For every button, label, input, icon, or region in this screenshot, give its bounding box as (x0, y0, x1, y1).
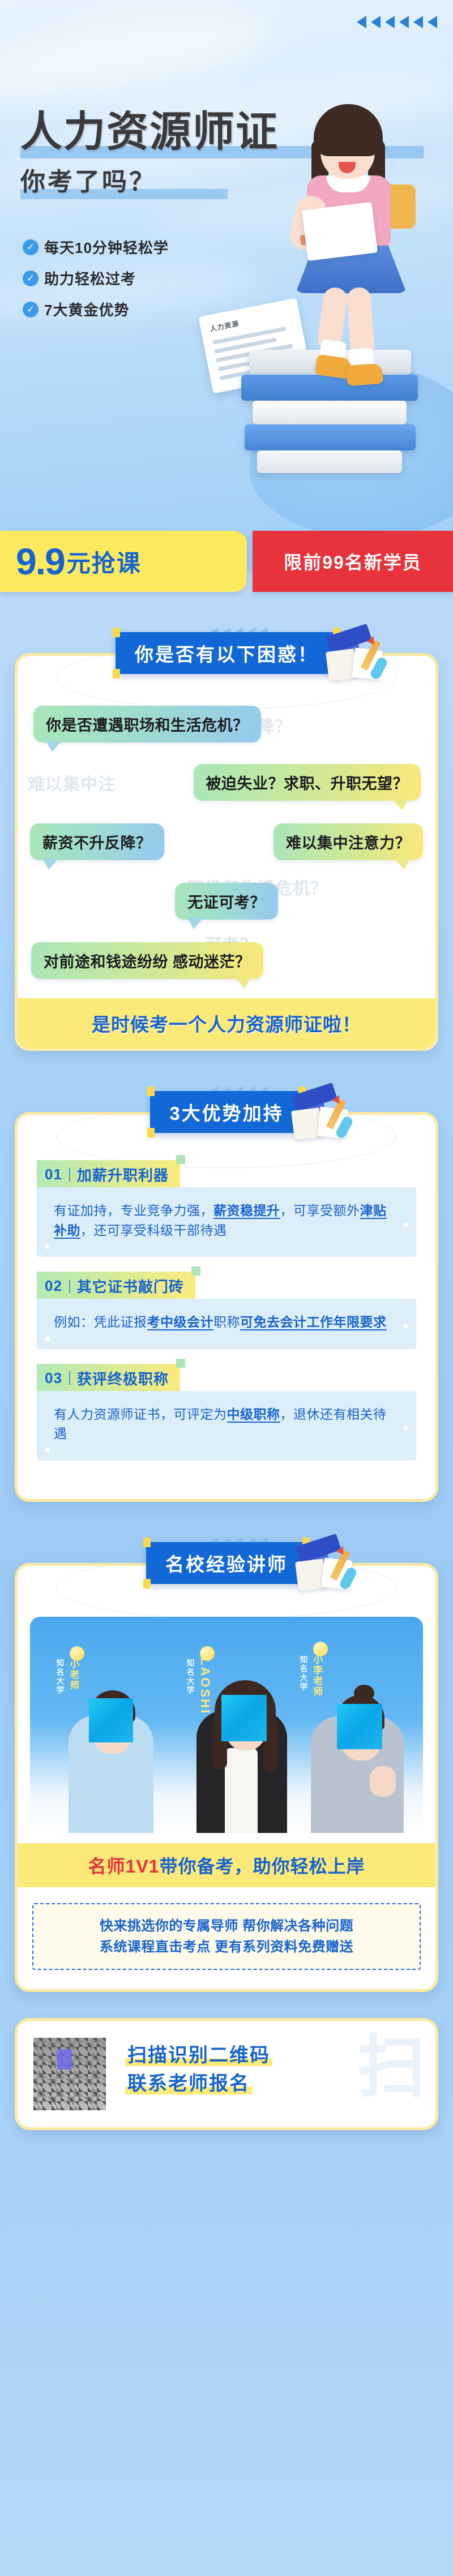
advantage-name: 获评终极职称 (77, 1368, 169, 1389)
note-line: 快来挑选你的专属导师 帮你解决各种问题 (39, 1916, 414, 1937)
bubble-text: 对前途和钱途纷纷 感动迷茫？ (44, 954, 251, 971)
bubble-text: 你是否遭遇职场和生活危机？ (46, 717, 249, 734)
triangle-left-icon (371, 16, 381, 28)
list-item: 03 获评终极职称 有人力资源师证书，可评定为中级职称，退休还有相关待遇 (37, 1364, 416, 1461)
section-header: 3大优势加持 (15, 1081, 438, 1143)
triangle-left-icon (385, 16, 395, 28)
advantage-tag: 03 获评终极职称 (37, 1364, 180, 1393)
arrow-group-top (357, 16, 437, 28)
divider (69, 1280, 70, 1293)
hero-banner: 人力资源师证 你考了吗？ ✓ 每天10分钟轻松学 ✓ 助力轻松过考 ✓ 7大黄金… (0, 0, 453, 572)
confusion-cta-label: 是时候考一个人力资源师证啦！ (92, 1014, 361, 1035)
open-book (302, 202, 378, 261)
teachers-notes: 快来挑选你的专属导师 帮你解决各种问题 系统课程直击考点 更有系列资料免费赠送 (32, 1903, 421, 1970)
pin-icon (113, 669, 120, 679)
triangle-left-icon (399, 16, 409, 28)
teachers-section: 名校经验讲师 小老师 (15, 1532, 438, 1992)
advantage-list: 01 加薪升职利器 有证加持，专业竞争力强，薪资稳提升，可享受额外津贴补助，还可… (18, 1157, 435, 1499)
qr-line-1: 扫描识别二维码 (125, 2046, 272, 2066)
divider (69, 1168, 70, 1182)
dot-decoration (45, 1448, 50, 1453)
check-circle-icon: ✓ (23, 271, 39, 286)
dot-decoration (403, 1324, 408, 1329)
book-stack-item (245, 424, 416, 450)
bullet-label: 每天10分钟轻松学 (44, 237, 169, 257)
pin-icon (147, 1087, 155, 1096)
section-title: 3大优势加持 (169, 1103, 283, 1124)
book-stack-item (253, 401, 407, 424)
pin-icon (113, 628, 120, 637)
graduation-cap-book-icon (293, 1540, 356, 1592)
teachers-cta-label: 带你备考，助你轻松上岸 (159, 1856, 365, 1877)
hero-bullet-list: ✓ 每天10分钟轻松学 ✓ 助力轻松过考 ✓ 7大黄金优势 (23, 237, 169, 330)
qr-line-2: 联系老师报名 (125, 2074, 252, 2094)
teacher-school: 知名大学 (185, 1659, 195, 1695)
page-subtitle: 你考了吗？ (20, 170, 156, 195)
teacher-name: 小李老师 (311, 1654, 323, 1697)
teachers-cta-highlight: 名师1V1 (88, 1856, 160, 1877)
bullet-label: 助力轻松过考 (44, 268, 136, 289)
graduation-cap-book-icon (324, 630, 386, 682)
list-item: ✓ 7大黄金优势 (23, 299, 169, 320)
bubble-text: 被迫失业？求职、升职无望？ (206, 775, 409, 792)
section-title: 名校经验讲师 (165, 1554, 288, 1575)
list-item: ✓ 助力轻松过考 (23, 268, 169, 289)
section-title: 你是否有以下困惑！ (135, 644, 318, 665)
advantage-name: 其它证书敲门砖 (77, 1276, 184, 1296)
teachers-card: 小老师 知名大学 LAOSHI 知名大学 (15, 1563, 438, 1992)
advantage-name: 加薪升职利器 (77, 1164, 169, 1185)
ghost-text: 难以集中注 (28, 770, 116, 795)
advantage-number: 01 (45, 1166, 62, 1183)
section-title-ribbon: 你是否有以下困惑！ (116, 632, 337, 674)
bubble-text: 无证可考？ (187, 894, 266, 911)
list-item: 01 加薪升职利器 有证加持，专业竞争力强，薪资稳提升，可享受额外津贴补助，还可… (37, 1160, 416, 1257)
bullet-label: 7大黄金优势 (44, 299, 129, 320)
teacher-name: 小老师 (67, 1659, 79, 1691)
confusion-card: 不升反降？ 难以集中注 职场和生活危机？ 可考？ 你是否遭遇职场和生活危机？ 被… (15, 653, 438, 1051)
teacher-name: LAOSHI (198, 1658, 212, 1715)
confusion-cta[interactable]: 是时候考一个人力资源师证啦！ (18, 998, 435, 1048)
teachers-cta[interactable]: 名师1V1带你备考，助你轻松上岸 (18, 1843, 435, 1887)
triangle-left-icon (428, 16, 437, 28)
speech-bubble: 对前途和钱途纷纷 感动迷茫？ (31, 942, 263, 979)
advantage-number: 02 (45, 1277, 62, 1295)
pin-icon (147, 1128, 155, 1137)
speech-bubble: 薪资不升反降？ (30, 823, 164, 860)
dot-decoration (45, 1336, 50, 1341)
price-banner[interactable]: 9.9 元抢课 限前99名新学员 (0, 531, 453, 592)
bubble-group: 不升反降？ 难以集中注 职场和生活危机？ 可考？ 你是否遭遇职场和生活危机？ 被… (18, 698, 435, 998)
paper-label: 人力资源 (209, 319, 240, 334)
advantage-body: 例如：凭此证报考中级会计职称可免去会计工作年限要求 (37, 1299, 416, 1349)
section-title-ribbon: 名校经验讲师 (146, 1542, 307, 1584)
section-header: 你是否有以下困惑！ (15, 622, 438, 684)
dot-decoration (403, 1426, 408, 1431)
qr-footer-card[interactable]: 扫 扫描识别二维码 联系老师报名 (15, 2018, 438, 2130)
price-pill[interactable]: 9.9 元抢课 (0, 531, 247, 592)
advantages-card: 01 加薪升职利器 有证加持，专业竞争力强，薪资稳提升，可享受额外津贴补助，还可… (15, 1112, 438, 1502)
advantage-text: 有人力资源师证书，可评定为中级职称，退休还有相关待遇 (54, 1405, 399, 1444)
bottom-spacer (0, 2130, 453, 2198)
bubble-text: 难以集中注意力？ (286, 835, 411, 852)
dot-decoration (45, 1244, 50, 1249)
advantage-tag: 01 加薪升职利器 (37, 1160, 180, 1189)
teacher-gallery: 小老师 知名大学 LAOSHI 知名大学 (18, 1608, 435, 1887)
price-amount: 9.9 (16, 543, 65, 580)
limit-badge: 限前99名新学员 (253, 531, 453, 592)
qr-text-block: 扫描识别二维码 联系老师报名 (125, 2046, 272, 2102)
confusion-section: 你是否有以下困惑！ 不升反降？ 难以集中注 职场和生活危机？ 可考？ 你是否遭遇… (15, 622, 438, 1051)
qr-code-icon[interactable] (33, 2038, 106, 2110)
advantage-number: 03 (45, 1369, 62, 1387)
pin-icon (143, 1538, 151, 1547)
advantage-tag: 02 其它证书敲门砖 (37, 1272, 195, 1300)
section-title-ribbon: 3大优势加持 (150, 1091, 302, 1133)
advantage-body: 有人力资源师证书，可评定为中级职称，退休还有相关待遇 (37, 1391, 416, 1461)
speech-bubble: 你是否遭遇职场和生活危机？ (33, 706, 261, 742)
triangle-left-icon (357, 16, 366, 28)
list-item: ✓ 每天10分钟轻松学 (23, 237, 169, 257)
note-line: 系统课程直击考点 更有系列资料免费赠送 (39, 1937, 414, 1957)
scan-watermark: 扫 (357, 2033, 425, 2101)
advantage-body: 有证加持，专业竞争力强，薪资稳提升，可享受额外津贴补助，还可享受科级干部待遇 (37, 1187, 416, 1257)
book-stack-item (257, 450, 402, 473)
dot-decoration (403, 1222, 408, 1227)
check-circle-icon: ✓ (23, 302, 39, 317)
advantage-text: 例如：凭此证报考中级会计职称可免去会计工作年限要求 (54, 1312, 399, 1332)
price-suffix: 元抢课 (67, 544, 142, 579)
advantage-text: 有证加持，专业竞争力强，薪资稳提升，可享受额外津贴补助，还可享受科级干部待遇 (54, 1201, 399, 1240)
bubble-text: 薪资不升反降？ (42, 835, 152, 852)
graduation-cap-book-icon (289, 1089, 352, 1141)
check-circle-icon: ✓ (23, 239, 39, 255)
teacher-school: 知名大学 (55, 1659, 65, 1695)
qr-highlight (57, 2049, 72, 2070)
page-title: 人力资源师证 (20, 111, 279, 153)
hair (314, 104, 383, 156)
triangle-left-icon (413, 16, 423, 28)
speech-bubble: 无证可考？ (175, 883, 278, 920)
section-header: 名校经验讲师 (15, 1532, 438, 1594)
shoe (346, 363, 383, 386)
list-item: 02 其它证书敲门砖 例如：凭此证报考中级会计职称可免去会计工作年限要求 (37, 1272, 416, 1349)
divider (69, 1371, 70, 1385)
teacher-photo: 小老师 知名大学 LAOSHI 知名大学 (30, 1617, 423, 1833)
limit-label: 限前99名新学员 (284, 548, 422, 574)
teacher-school: 知名大学 (298, 1655, 309, 1691)
advantages-section: 3大优势加持 01 加薪升职利器 有证加持，专业竞争力强，薪资稳提升 (15, 1081, 438, 1502)
pin-icon (143, 1579, 151, 1588)
book-stack-item (241, 375, 418, 401)
speech-bubble: 被迫失业？求职、升职无望？ (194, 764, 421, 801)
speech-bubble: 难以集中注意力？ (273, 823, 423, 860)
